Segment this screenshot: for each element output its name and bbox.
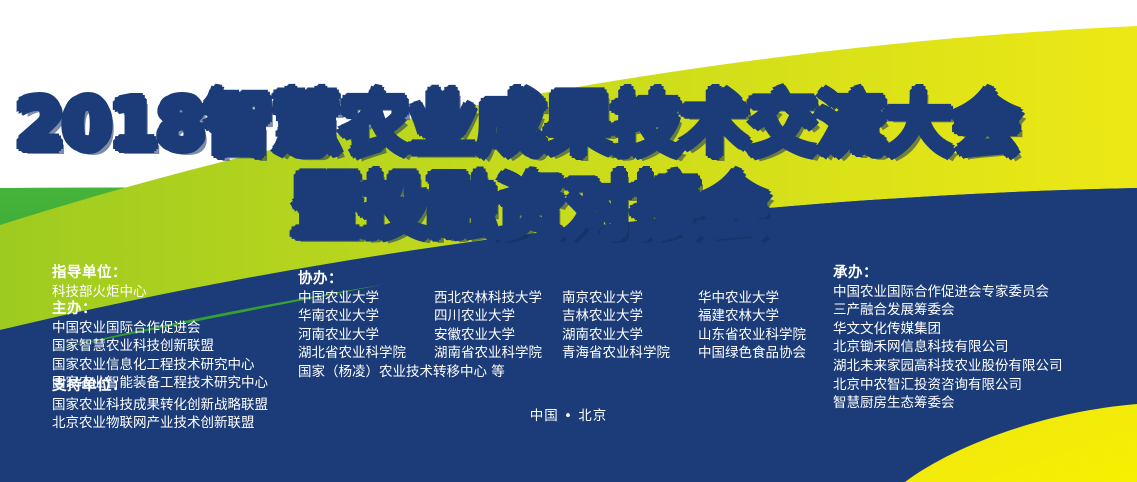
- coorganizers-last-line: 国家（杨凌）农业技术转移中心 等: [298, 363, 806, 382]
- location-text: 中国 • 北京: [0, 404, 1137, 424]
- coorganizer-r2c3: 山东省农业科学院: [698, 326, 806, 345]
- coorganizer-r0c2: 南京农业大学: [562, 289, 698, 308]
- credits-column-organizer: 承办： 中国农业国际合作促进会专家委员会 三产融合发展筹委会 华文文化传媒集团 …: [833, 264, 1063, 413]
- credits-column-coorganizers: 协办： 中国农业大学 西北农林科技大学 南京农业大学 华中农业大学 华南农业大学…: [298, 270, 806, 382]
- host-item-0: 中国农业国际合作促进会: [52, 319, 268, 338]
- organizer-item-4: 湖北未来家园高科技农业股份有限公司: [833, 357, 1063, 376]
- conference-banner: 2018智慧农业成果技术交流大会 暨投融资对接会 指导单位： 科技部火炬中心 主…: [0, 0, 1137, 482]
- host-item-2: 国家农业信息化工程技术研究中心: [52, 356, 268, 375]
- coorganizer-r3c2: 青海省农业科学院: [562, 344, 698, 363]
- organizer-item-0: 中国农业国际合作促进会专家委员会: [833, 283, 1063, 302]
- credits-area: 指导单位： 科技部火炬中心 主办： 中国农业国际合作促进会 国家智慧农业科技创新…: [0, 0, 1137, 482]
- coorganizer-r1c3: 福建农林大学: [698, 307, 806, 326]
- coorganizer-r3c0: 湖北省农业科学院: [298, 344, 434, 363]
- organizer-item-5: 北京中农智汇投资咨询有限公司: [833, 376, 1063, 395]
- host-item-1: 国家智慧农业科技创新联盟: [52, 337, 268, 356]
- organizer-item-1: 三产融合发展筹委会: [833, 301, 1063, 320]
- organizer-item-3: 北京锄禾网信息科技有限公司: [833, 338, 1063, 357]
- coorganizer-r3c1: 湖南省农业科学院: [434, 344, 562, 363]
- credits-column-guide: 指导单位： 科技部火炬中心: [52, 264, 147, 301]
- organizer-heading: 承办：: [833, 264, 1063, 283]
- coorganizer-r0c3: 华中农业大学: [698, 289, 806, 308]
- guide-heading: 指导单位：: [52, 264, 147, 283]
- coorganizer-r1c2: 吉林农业大学: [562, 307, 698, 326]
- organizer-item-2: 华文文化传媒集团: [833, 320, 1063, 339]
- host-heading: 主办：: [52, 300, 268, 319]
- coorganizer-r1c0: 华南农业大学: [298, 307, 434, 326]
- support-heading: 支持单位：: [52, 377, 268, 396]
- coorganizer-r0c0: 中国农业大学: [298, 289, 434, 308]
- coorganizer-r2c1: 安徽农业大学: [434, 326, 562, 345]
- coorganizer-r1c1: 四川农业大学: [434, 307, 562, 326]
- coorganizers-heading: 协办：: [298, 270, 806, 289]
- coorganizer-r0c1: 西北农林科技大学: [434, 289, 562, 308]
- coorganizer-r2c0: 河南农业大学: [298, 326, 434, 345]
- guide-item-0: 科技部火炬中心: [52, 283, 147, 302]
- coorganizer-r3c3: 中国绿色食品协会: [698, 344, 806, 363]
- coorganizer-r2c2: 湖南农业大学: [562, 326, 698, 345]
- coorganizers-grid: 中国农业大学 西北农林科技大学 南京农业大学 华中农业大学 华南农业大学 四川农…: [298, 289, 806, 363]
